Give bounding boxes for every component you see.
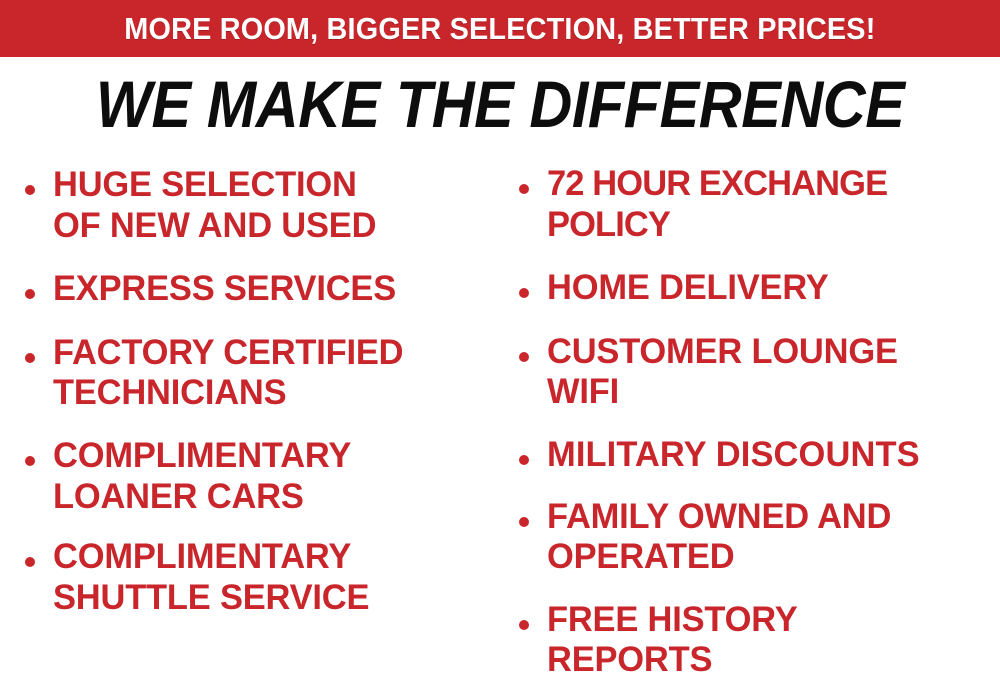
bullet-dot-icon (25, 353, 35, 363)
list-item: HOME DELIVERY (508, 268, 1000, 309)
list-item-label: CUSTOMER LOUNGE WIFI (547, 332, 993, 413)
benefits-column-right: 72 HOUR EXCHANGE POLICY HOME DELIVERY CU… (508, 160, 1000, 694)
bullet-dot-icon (25, 456, 35, 466)
list-item-label: FAMILY OWNED AND OPERATED (547, 497, 993, 578)
list-item: FAMILY OWNED AND OPERATED (508, 497, 1000, 578)
list-item-label: COMPLIMENTARY LOANER CARS (53, 436, 493, 517)
list-item: 72 HOUR EXCHANGE POLICY (508, 164, 1000, 245)
list-item: COMPLIMENTARY SHUTTLE SERVICE (14, 537, 500, 618)
list-item: EXPRESS SERVICES (14, 269, 500, 310)
benefits-columns: HUGE SELECTION OF NEW AND USED EXPRESS S… (0, 160, 1000, 694)
top-banner: MORE ROOM, BIGGER SELECTION, BETTER PRIC… (0, 0, 1000, 57)
bullet-dot-icon (25, 185, 35, 195)
list-item: MILITARY DISCOUNTS (508, 435, 1000, 476)
banner-headline: MORE ROOM, BIGGER SELECTION, BETTER PRIC… (124, 13, 875, 44)
promotional-poster: MORE ROOM, BIGGER SELECTION, BETTER PRIC… (0, 0, 1000, 694)
list-item-label: HOME DELIVERY (547, 268, 993, 309)
list-item: COMPLIMENTARY LOANER CARS (14, 436, 500, 517)
bullet-dot-icon (519, 455, 529, 465)
list-item: CUSTOMER LOUNGE WIFI (508, 332, 1000, 413)
bullet-dot-icon (519, 620, 529, 630)
page-title-text: WE MAKE THE DIFFERENCE (96, 71, 905, 137)
list-item: FACTORY CERTIFIED TECHNICIANS (14, 333, 500, 414)
list-item-label: FREE HISTORY REPORTS (547, 600, 993, 681)
bullet-dot-icon (25, 557, 35, 567)
bullet-dot-icon (519, 517, 529, 527)
list-item: HUGE SELECTION OF NEW AND USED (14, 165, 500, 246)
list-item-label: FACTORY CERTIFIED TECHNICIANS (53, 333, 493, 414)
page-title: WE MAKE THE DIFFERENCE (0, 71, 1000, 137)
list-item: FREE HISTORY REPORTS (508, 600, 1000, 681)
bullet-dot-icon (519, 352, 529, 362)
list-item-label: 72 HOUR EXCHANGE POLICY (547, 164, 993, 245)
bullet-dot-icon (519, 184, 529, 194)
list-item-label: MILITARY DISCOUNTS (547, 435, 993, 476)
bullet-dot-icon (519, 288, 529, 298)
list-item-label: EXPRESS SERVICES (53, 269, 493, 310)
bullet-dot-icon (25, 289, 35, 299)
benefits-column-left: HUGE SELECTION OF NEW AND USED EXPRESS S… (14, 160, 500, 694)
list-item-label: HUGE SELECTION OF NEW AND USED (53, 165, 493, 246)
list-item-label: COMPLIMENTARY SHUTTLE SERVICE (53, 537, 493, 618)
